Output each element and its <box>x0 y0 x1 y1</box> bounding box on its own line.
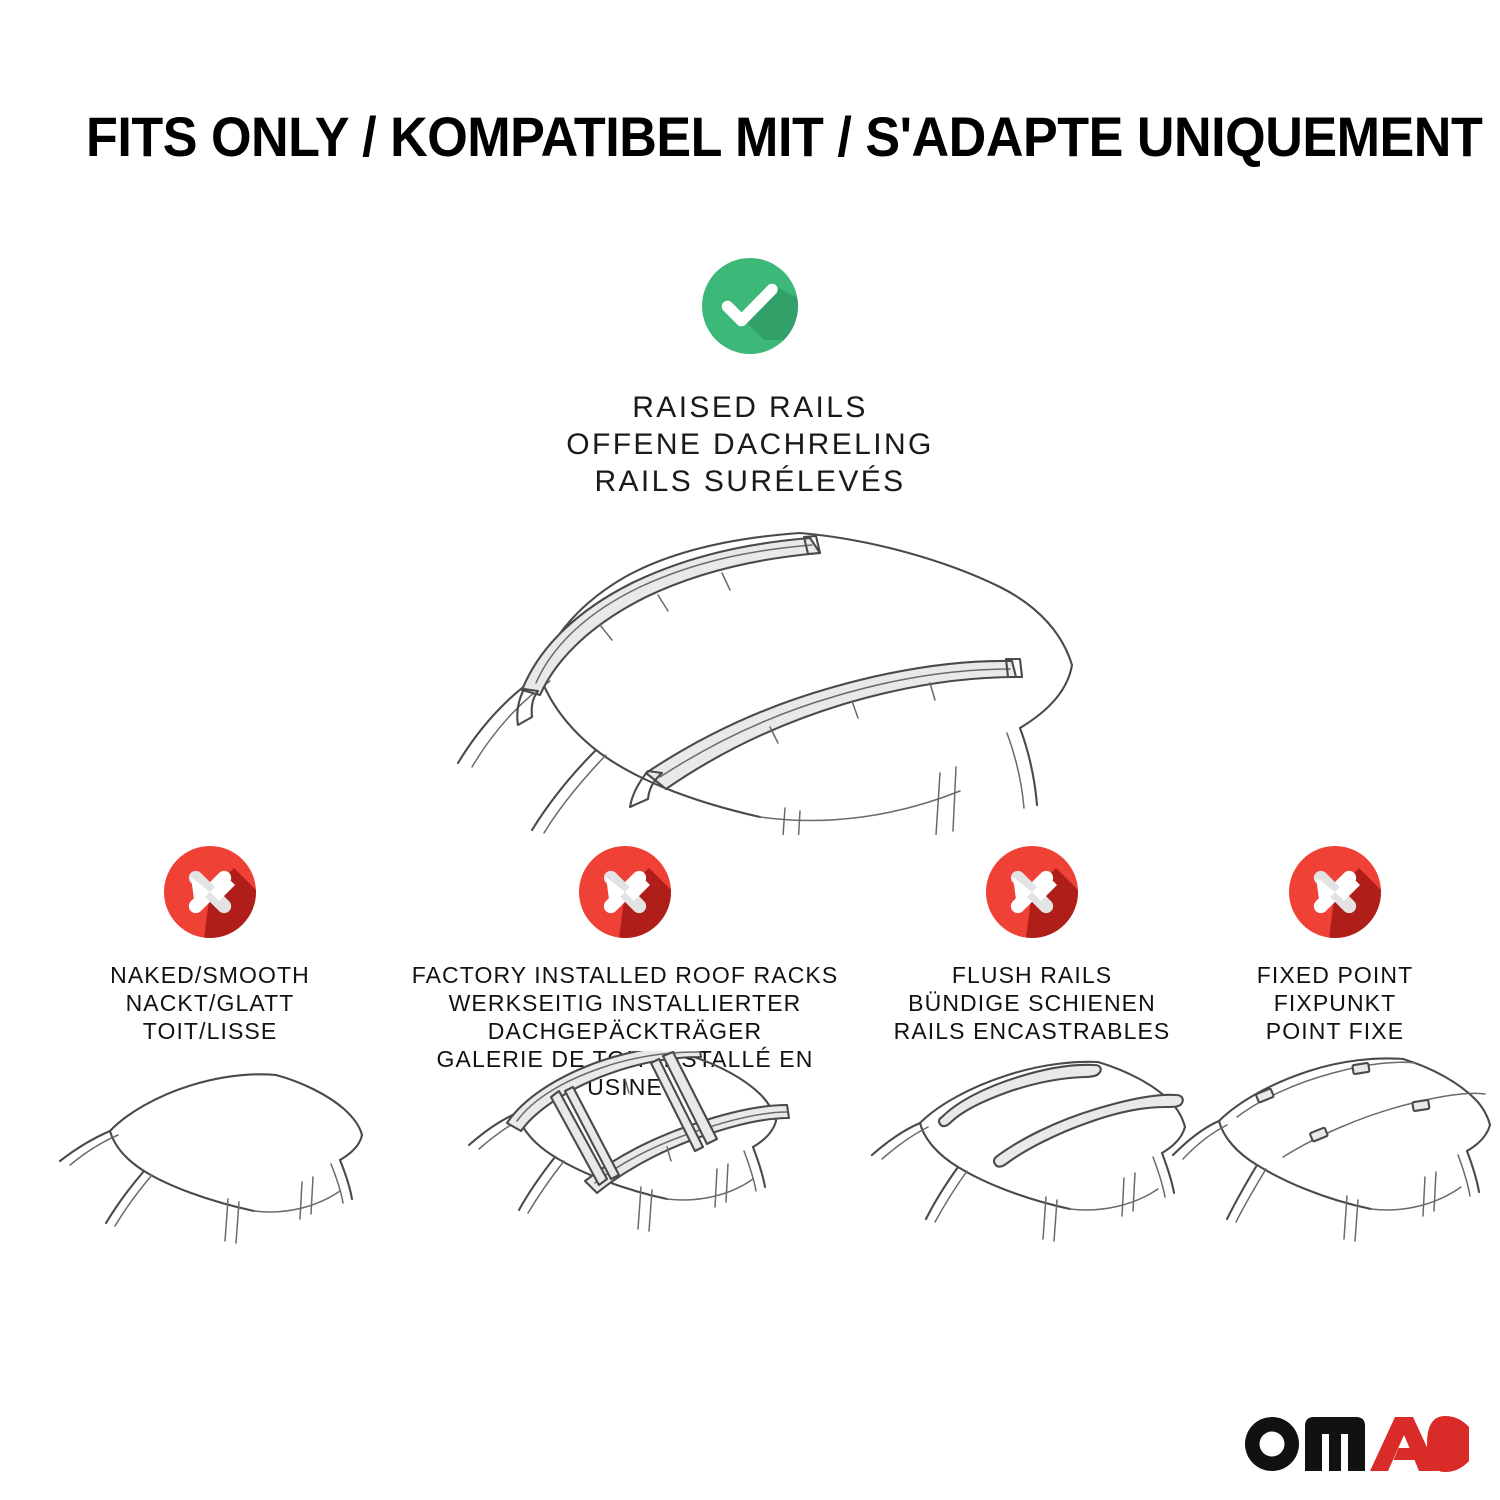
factory-roof-racks-illustration <box>455 1051 795 1291</box>
raised-rails-illustration <box>400 505 1100 835</box>
x-glyph-icon <box>986 846 1078 938</box>
incompatible-label: FLUSH RAILS BÜNDIGE SCHIENEN RAILS ENCAS… <box>857 961 1207 1045</box>
check-circle-icon <box>702 258 798 354</box>
compatible-section: RAISED RAILS OFFENE DACHRELING RAILS SUR… <box>0 258 1500 500</box>
incompatible-item-flush-rails: FLUSH RAILS BÜNDIGE SCHIENEN RAILS ENCAS… <box>857 846 1207 1045</box>
x-glyph-icon <box>164 846 256 938</box>
incompatible-label: NAKED/SMOOTH NACKT/GLATT TOIT/LISSE <box>35 961 385 1045</box>
x-circle-icon <box>579 846 671 938</box>
check-glyph-icon <box>702 258 798 354</box>
naked-smooth-roof-illustration <box>40 1051 380 1291</box>
compatible-label: RAISED RAILS OFFENE DACHRELING RAILS SUR… <box>0 389 1500 500</box>
incompatible-item-factory-racks: FACTORY INSTALLED ROOF RACKS WERKSEITIG … <box>395 846 855 1101</box>
x-circle-icon <box>1289 846 1381 938</box>
x-circle-icon <box>164 846 256 938</box>
x-glyph-icon <box>1289 846 1381 938</box>
flush-rails-illustration <box>862 1051 1202 1291</box>
page-title: FITS ONLY / KOMPATIBEL MIT / S'ADAPTE UN… <box>86 108 1332 167</box>
x-circle-icon <box>986 846 1078 938</box>
product-fitment-infographic: FITS ONLY / KOMPATIBEL MIT / S'ADAPTE UN… <box>0 0 1500 1500</box>
omac-logo <box>1243 1410 1469 1472</box>
incompatible-item-fixed-point: FIXED POINT FIXPUNKT POINT FIXE <box>1200 846 1470 1045</box>
incompatible-section: NAKED/SMOOTH NACKT/GLATT TOIT/LISSE <box>0 846 1500 1486</box>
fixed-point-roof-illustration <box>1165 1051 1500 1291</box>
incompatible-item-naked-smooth: NAKED/SMOOTH NACKT/GLATT TOIT/LISSE <box>35 846 385 1045</box>
incompatible-label: FIXED POINT FIXPUNKT POINT FIXE <box>1200 961 1470 1045</box>
x-glyph-icon <box>579 846 671 938</box>
